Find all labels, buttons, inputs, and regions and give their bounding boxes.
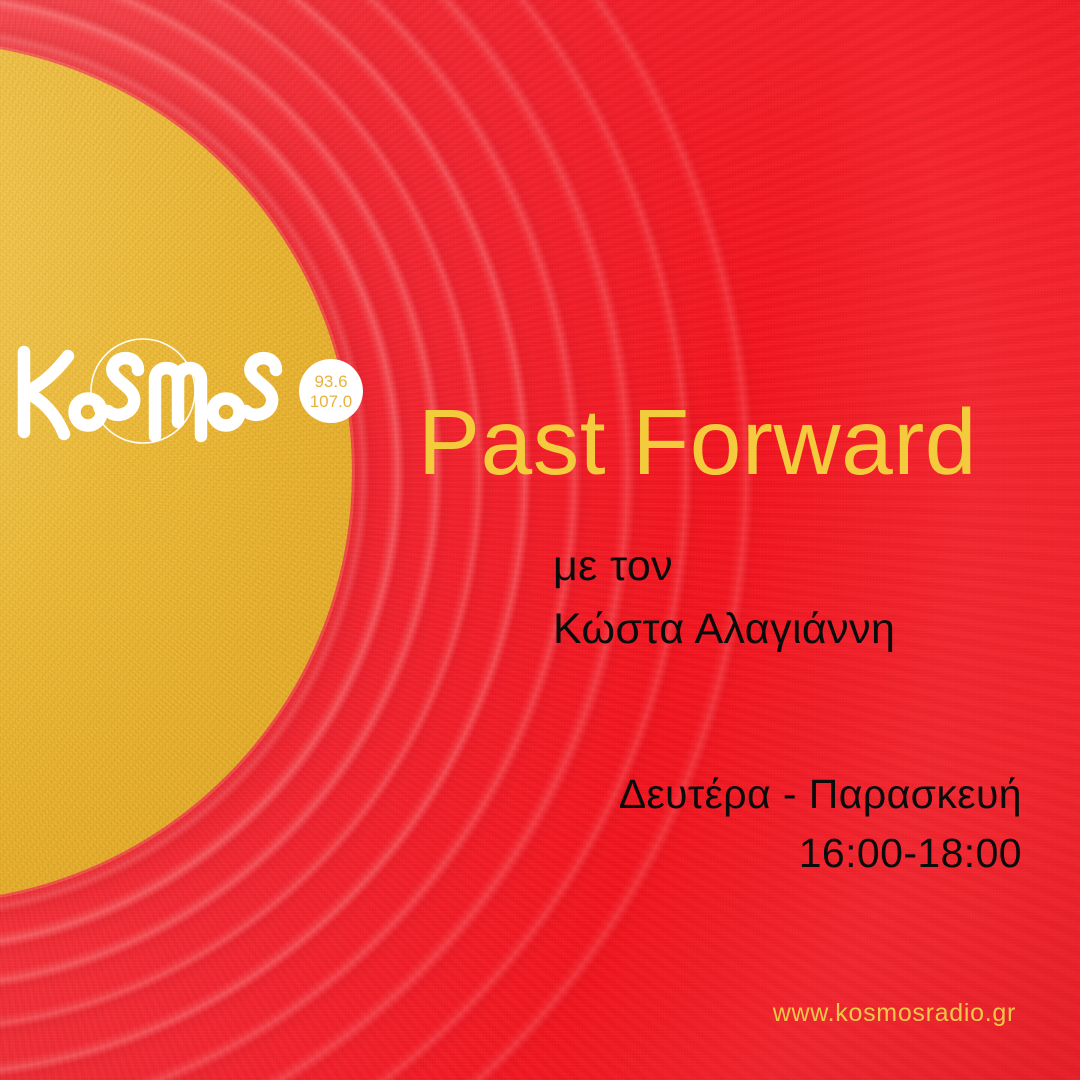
kosmos-wordmark-icon	[14, 336, 286, 446]
host-credit: με τον Κώστα Αλαγιάννη	[553, 535, 895, 661]
schedule-time: 16:00-18:00	[619, 824, 1022, 883]
show-title: Past Forward	[418, 396, 977, 489]
poster-canvas: 93.6 107.0 Past Forward με τον Κώστα Αλα…	[0, 0, 1080, 1080]
schedule-days: Δευτέρα - Παρασκευή	[619, 765, 1022, 824]
host-prefix: με τον	[553, 535, 895, 598]
host-name: Κώστα Αλαγιάννη	[553, 598, 895, 661]
frequency-fm-2: 107.0	[310, 392, 353, 411]
poster-content: 93.6 107.0 Past Forward με τον Κώστα Αλα…	[0, 0, 1080, 1080]
website-url[interactable]: www.kosmosradio.gr	[773, 999, 1016, 1028]
kosmos-logo: 93.6 107.0	[14, 336, 364, 446]
frequency-badge-icon: 93.6 107.0	[298, 358, 364, 424]
frequency-fm-1: 93.6	[314, 372, 347, 391]
broadcast-schedule: Δευτέρα - Παρασκευή 16:00-18:00	[619, 765, 1022, 884]
